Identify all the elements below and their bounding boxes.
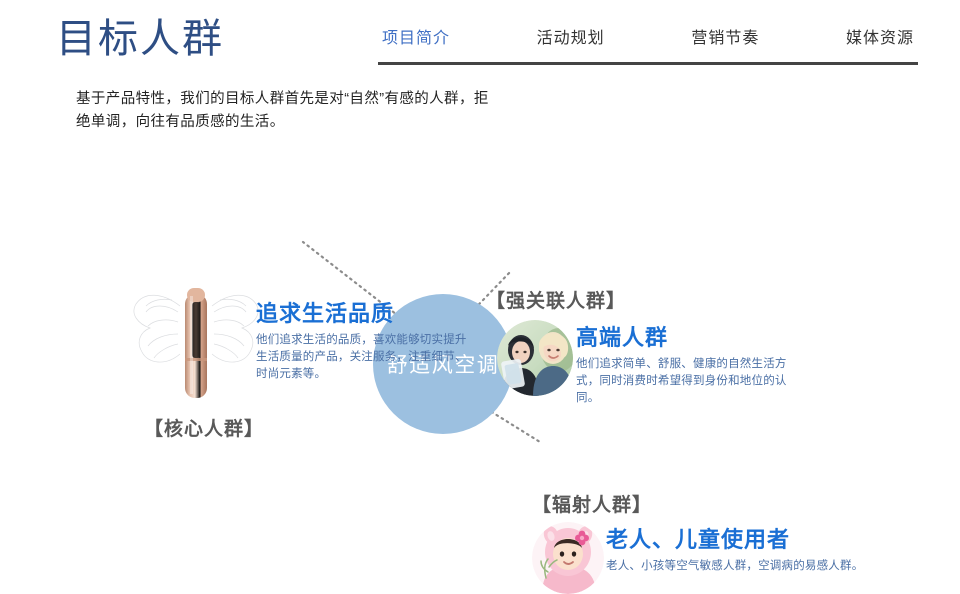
child-in-pink-hoodie-photo (532, 522, 604, 594)
tab-activity-planning[interactable]: 活动规划 (533, 28, 609, 50)
two-women-selfie-photo (497, 320, 573, 396)
group-radiated-body: 老人、小孩等空气敏感人群，空调病的易感人群。 (606, 558, 906, 575)
nav-underline-divider (378, 62, 918, 65)
tab-project-intro[interactable]: 项目简介 (378, 28, 454, 50)
group-core-heading: 追求生活品质 (256, 296, 474, 328)
group-core-body: 他们追求生活的品质，喜欢能够切实提升生活质量的产品，关注服务，注重细节、时尚元素… (256, 332, 474, 383)
audience-diagram: 舒适风空调 (0, 130, 960, 530)
group-highend-tag: 【强关联人群】 (486, 286, 626, 313)
group-radiated-heading: 老人、儿童使用者 (606, 522, 906, 554)
tab-marketing-rhythm[interactable]: 营销节奏 (687, 28, 763, 50)
group-highend-heading: 高端人群 (576, 320, 794, 352)
group-core-tag: 【核心人群】 (144, 414, 264, 441)
group-highend: 高端人群 他们追求简单、舒服、健康的自然生活方式，同时消费时希望得到身份和地位的… (576, 320, 794, 407)
intro-paragraph: 基于产品特性，我们的目标人群首先是对“自然”有感的人群，拒绝单调，向往有品质感的… (76, 88, 496, 134)
tab-media-resources[interactable]: 媒体资源 (842, 28, 918, 50)
group-radiated: 老人、儿童使用者 老人、小孩等空气敏感人群，空调病的易感人群。 (606, 522, 906, 575)
air-conditioner-with-wings-icon (128, 280, 264, 408)
group-core: 追求生活品质 他们追求生活的品质，喜欢能够切实提升生活质量的产品，关注服务，注重… (256, 296, 474, 383)
group-highend-body: 他们追求简单、舒服、健康的自然生活方式，同时消费时希望得到身份和地位的认同。 (576, 356, 794, 407)
page-title: 目标人群 (56, 16, 224, 62)
group-radiated-tag: 【辐射人群】 (532, 490, 652, 517)
nav-tabs: 项目简介 活动规划 营销节奏 媒体资源 (378, 28, 918, 50)
